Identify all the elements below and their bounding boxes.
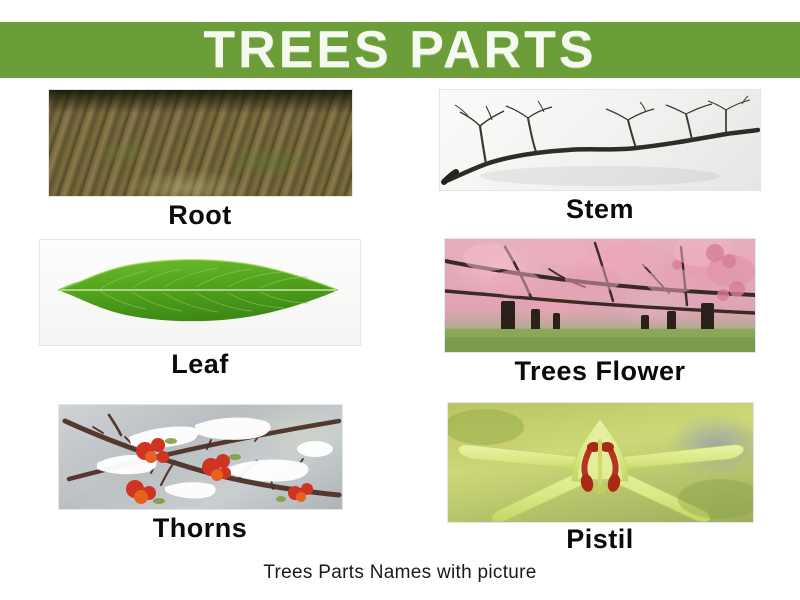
stem-illustration: [440, 90, 760, 190]
stem-label: Stem: [566, 196, 634, 223]
trees-parts-grid: Root: [0, 82, 800, 552]
card-root[interactable]: Root: [0, 82, 400, 238]
leaf-illustration: [40, 240, 360, 345]
thorns-image: [59, 405, 342, 509]
pistil-illustration: [448, 403, 753, 522]
card-trees-flower[interactable]: Trees Flower: [400, 234, 800, 390]
stem-image: [440, 90, 760, 190]
trees-flower-image: [445, 239, 755, 352]
pistil-image: [448, 403, 753, 522]
page-title: TREES PARTS: [203, 24, 596, 76]
grid-row: Root: [0, 82, 800, 238]
card-thorns[interactable]: Thorns: [0, 399, 400, 555]
root-label: Root: [168, 202, 231, 229]
card-pistil[interactable]: Pistil: [400, 399, 800, 555]
leaf-label: Leaf: [171, 351, 229, 378]
leaf-image: [40, 240, 360, 345]
root-image: [49, 90, 352, 196]
footer-caption: Trees Parts Names with picture: [0, 562, 800, 584]
grid-row: Thorns: [0, 399, 800, 555]
thorns-illustration: [59, 405, 342, 509]
header-banner: TREES PARTS: [0, 22, 800, 78]
pistil-label: Pistil: [566, 526, 634, 553]
trees-flower-label: Trees Flower: [514, 358, 685, 385]
card-leaf[interactable]: Leaf: [0, 234, 400, 390]
blossom-trees-illustration: [445, 239, 755, 352]
grid-row: Leaf: [0, 234, 800, 390]
card-stem[interactable]: Stem: [400, 82, 800, 238]
thorns-label: Thorns: [153, 515, 248, 542]
